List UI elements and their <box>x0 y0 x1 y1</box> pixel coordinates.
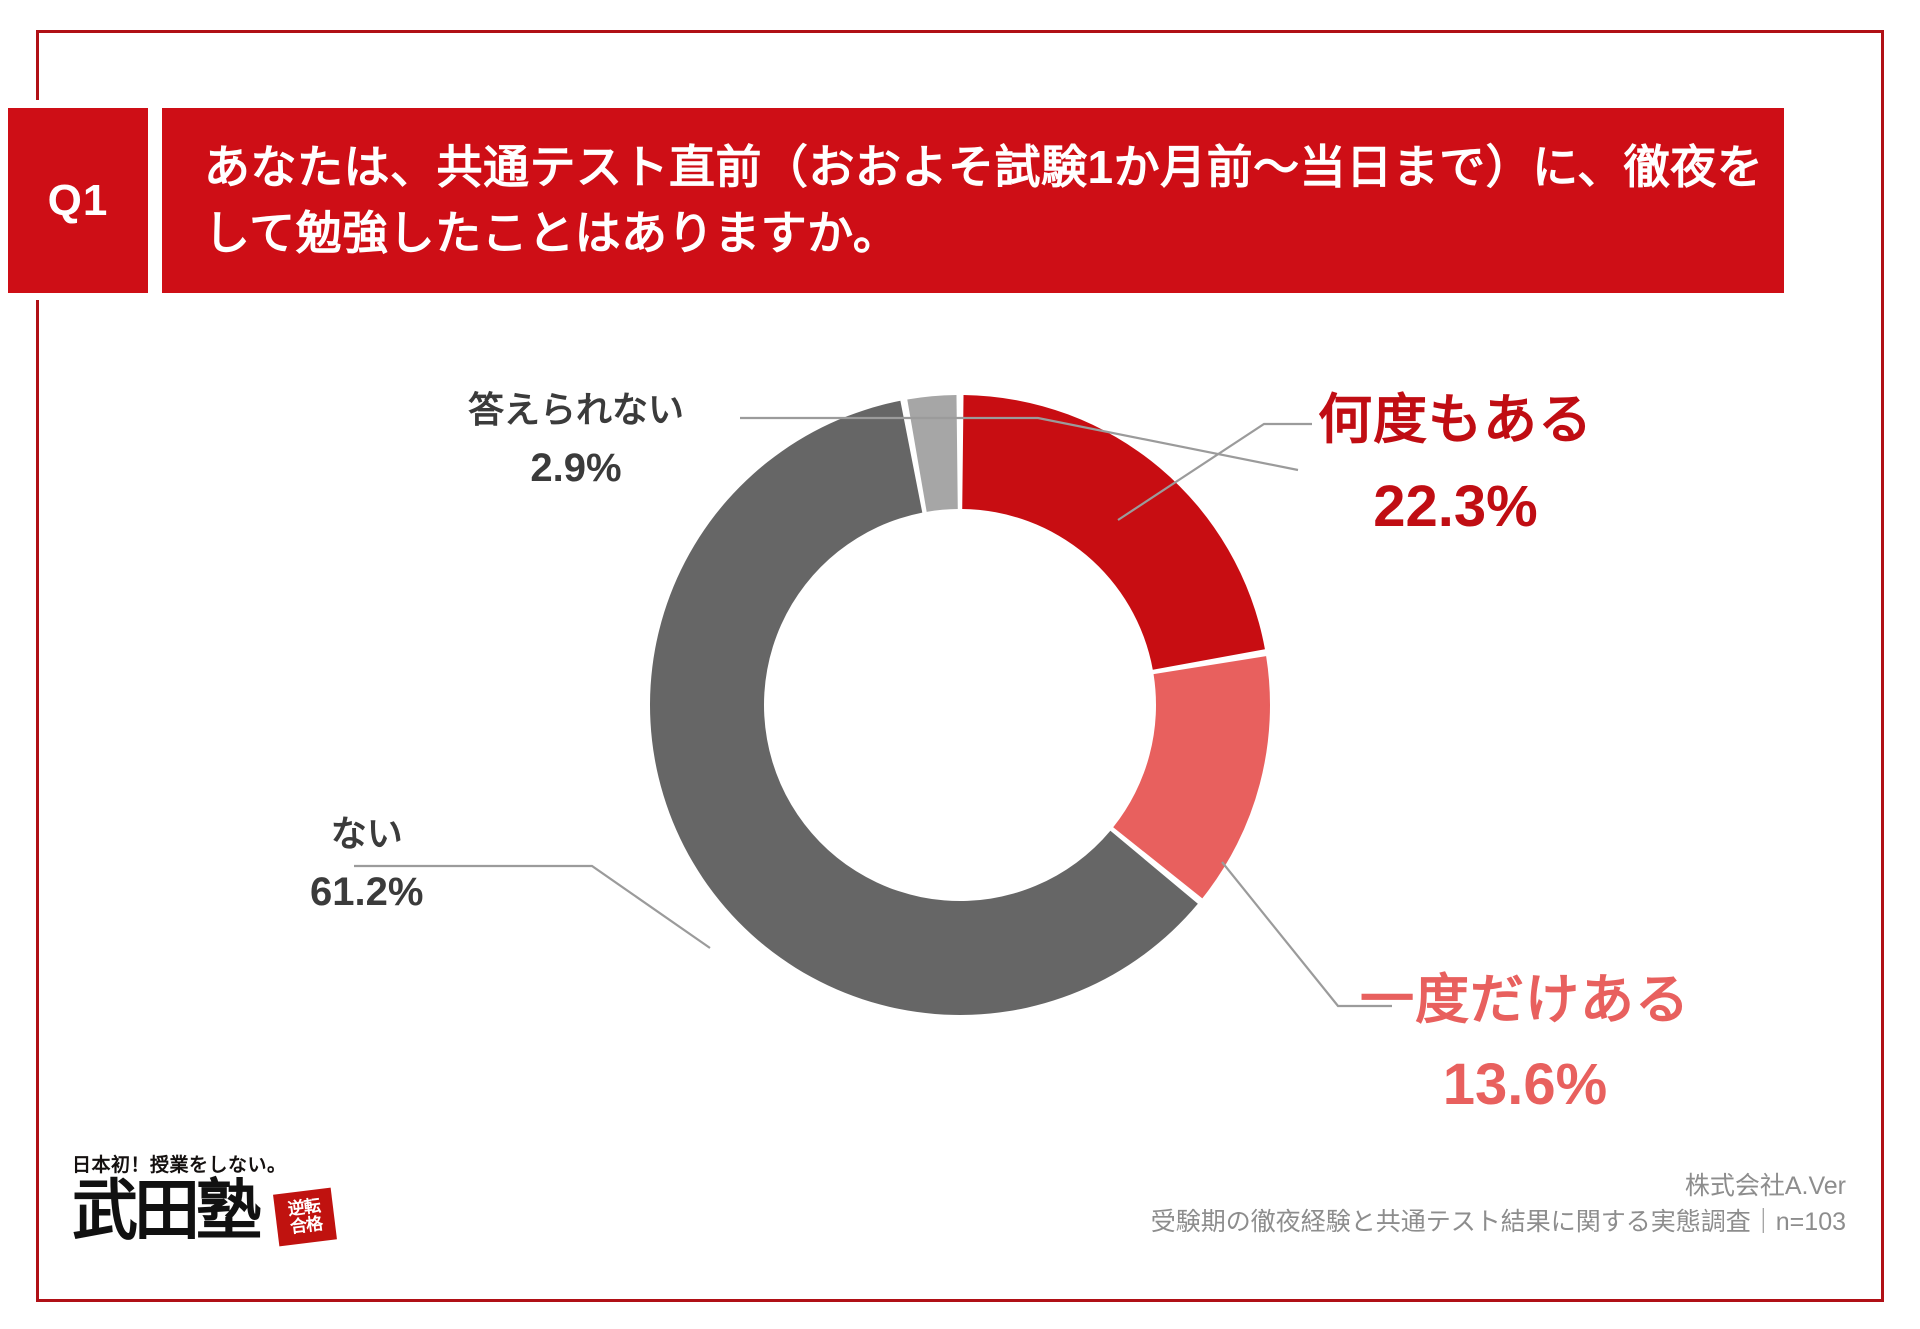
callout-ichido: 一度だけある 13.6% <box>1360 968 1690 1121</box>
logo-stamp-icon: 逆転合格 <box>273 1188 337 1247</box>
donut-slice-0 <box>962 395 1265 670</box>
infographic-page: Q1 あなたは、共通テスト直前（おおよそ試験1か月前〜当日まで）に、徹夜をして勉… <box>0 0 1920 1329</box>
takeda-juku-logo: 日本初！授業をしない。 武田塾 逆転合格 <box>72 1150 342 1245</box>
callout-nandomo-value: 22.3% <box>1318 472 1593 543</box>
credit-survey: 受験期の徹夜経験と共通テスト結果に関する実態調査｜n=103 <box>1151 1204 1846 1240</box>
callout-nandomo: 何度もある 22.3% <box>1318 388 1593 543</box>
footer-credit: 株式会社A.Ver 受験期の徹夜経験と共通テスト結果に関する実態調査｜n=103 <box>1151 1168 1846 1241</box>
logo-brand-text: 武田塾 <box>72 1179 258 1245</box>
callout-nai-name: ない <box>310 812 423 856</box>
credit-company: 株式会社A.Ver <box>1151 1168 1846 1204</box>
callout-nandomo-name: 何度もある <box>1318 388 1593 454</box>
logo-tagline: 日本初！授業をしない。 <box>72 1150 342 1177</box>
logo-stamp-text: 逆転合格 <box>287 1197 323 1236</box>
donut-chart <box>590 335 1330 1075</box>
logo-mark: 武田塾 逆転合格 <box>72 1179 342 1245</box>
callout-ichido-value: 13.6% <box>1360 1050 1690 1121</box>
question-bar: あなたは、共通テスト直前（おおよそ試験1か月前〜当日まで）に、徹夜をして勉強した… <box>162 108 1784 293</box>
question-number-label: Q1 <box>48 176 109 226</box>
question-number-tab: Q1 <box>8 108 148 293</box>
callout-kotaerarenai: 答えられない 2.9% <box>468 388 684 493</box>
callout-kotaerarenai-name: 答えられない <box>468 388 684 432</box>
callout-kotaerarenai-value: 2.9% <box>468 444 684 493</box>
callout-ichido-name: 一度だけある <box>1360 968 1690 1034</box>
callout-nai-value: 61.2% <box>310 868 423 917</box>
callout-nai: ない 61.2% <box>310 812 423 917</box>
question-text: あなたは、共通テスト直前（おおよそ試験1か月前〜当日まで）に、徹夜をして勉強した… <box>204 135 1784 266</box>
